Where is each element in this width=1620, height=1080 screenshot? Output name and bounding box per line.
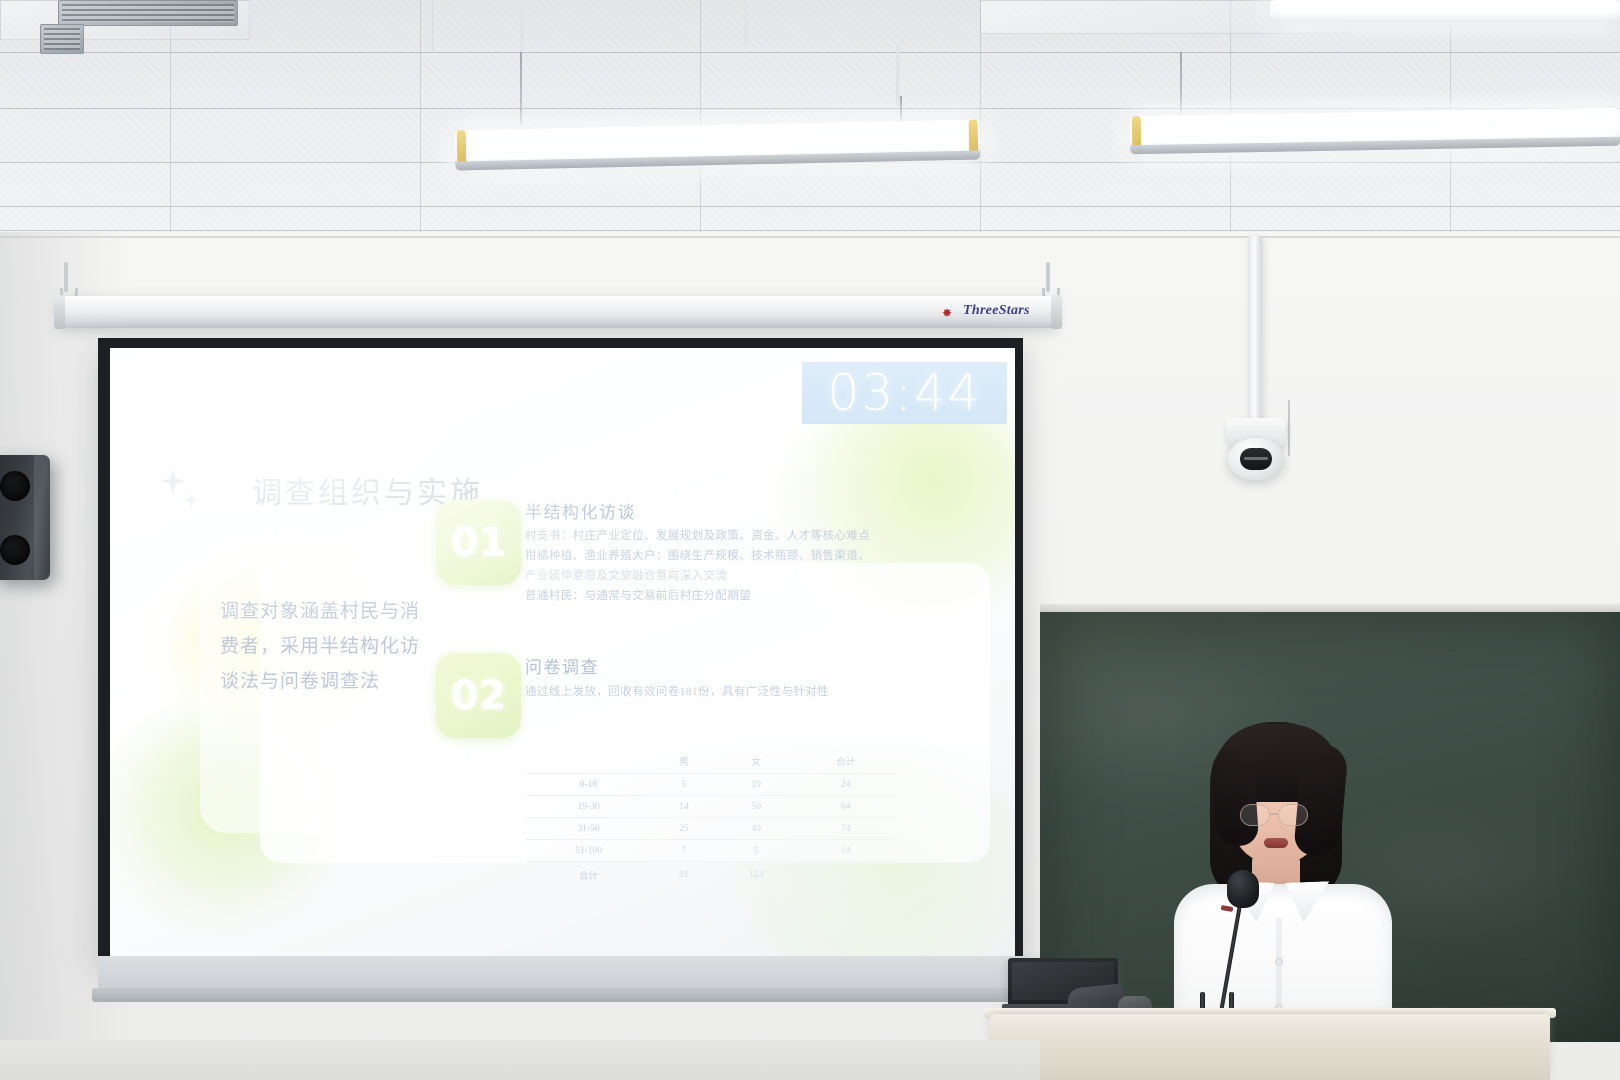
slide-left-summary: 调查对象涵盖村民与消费者，采用半结构化访谈法与问卷调查法: [220, 594, 425, 699]
table-cell-male: 51: [652, 862, 716, 888]
presentation-slide: 03:44 调查组织与实施 调查对象涵盖村民与消费者，采用半结构化访谈法与问卷调…: [110, 348, 1015, 956]
ceiling-grid-line: [420, 0, 421, 232]
screen-bottom-strip: [98, 956, 1023, 992]
classroom-scene: ✸ ThreeStars 03:44 调查组织与实施: [0, 0, 1620, 1080]
table-cell-total: 74: [797, 818, 895, 840]
sparkle-small-icon: [183, 492, 200, 509]
section-body-line: 产业延伸意愿及文旅融合意向深入交流: [525, 566, 945, 586]
shirt-button: [1275, 958, 1283, 966]
table-cell-female: 49: [716, 818, 797, 840]
camera-lens-icon: [1240, 448, 1272, 470]
sparkle-icon: [158, 466, 210, 514]
ceiling-grid-line: [0, 206, 1620, 207]
table-body: 0-18 5 19 24 19-30 14 50 64 31-50 25: [525, 774, 895, 888]
table-cell-label: 51-100: [525, 840, 652, 862]
table-header-row: 男 女 合计: [525, 748, 895, 774]
table-col-header: 男: [652, 748, 716, 774]
floor: [0, 1040, 1040, 1080]
table-row-total: 合计 51 123: [525, 862, 895, 888]
wall-speaker: [0, 455, 50, 580]
microphone-head-icon: [1227, 870, 1259, 908]
glasses-right-lens-icon: [1278, 804, 1308, 826]
light-hanger: [1180, 52, 1182, 118]
ceiling-vent: [40, 24, 84, 54]
table-cell-female: 5: [716, 840, 797, 862]
table-cell-female: 123: [716, 862, 797, 888]
table-cell-total: 24: [797, 774, 895, 796]
badge-number: 01: [451, 520, 507, 566]
sparkle-large-icon: [160, 468, 186, 494]
vent-louvers: [62, 4, 234, 22]
screen-weight-bar: [92, 988, 1028, 1002]
table-col-header: [525, 748, 652, 774]
camera-cable: [1288, 400, 1290, 456]
ceiling-conduit: [520, 0, 523, 52]
ceiling-conduit: [744, 0, 747, 44]
glasses-bridge-icon: [1270, 813, 1278, 815]
roller-bracket-right: [1051, 295, 1062, 329]
table-cell-male: 5: [652, 774, 716, 796]
timer-value: 03:44: [827, 364, 981, 422]
speaker-driver: [0, 535, 30, 565]
section-number-badge-01: 01: [436, 500, 521, 585]
glasses-left-lens-icon: [1240, 804, 1270, 826]
ceiling-light-fixture: [1270, 0, 1620, 22]
section-heading-01: 半结构化访谈: [525, 498, 636, 523]
ceiling-grid-line: [0, 230, 1620, 231]
table-cell-label: 19-30: [525, 796, 652, 818]
table-cell-total: [797, 862, 895, 888]
countdown-timer: 03:44: [802, 362, 1007, 424]
section-body-line: 村支书：村庄产业定位、发展规划及政策、资金、人才等核心难点: [525, 526, 945, 546]
camera-mount-arm: [1248, 236, 1262, 436]
speaker-driver: [0, 471, 30, 501]
table-cell-total: 14: [797, 840, 895, 862]
table-col-header: 合计: [797, 748, 895, 774]
screen-hook-left: [64, 262, 68, 292]
vent-louvers: [44, 28, 80, 50]
table-cell-female: 50: [716, 796, 797, 818]
ceiling: [0, 0, 1620, 232]
ceiling-vent: [58, 0, 238, 26]
podium: [990, 1014, 1550, 1080]
presenter-mouth: [1264, 838, 1288, 848]
section-number-badge-02: 02: [436, 653, 521, 738]
projector-screen-roller: ✸ ThreeStars: [58, 296, 1058, 328]
table-cell-male: 25: [652, 818, 716, 840]
table-cell-total: 64: [797, 796, 895, 818]
slide-title-group: 调查组织与实施: [158, 466, 483, 514]
presenter-hair-left: [1211, 747, 1260, 848]
table-cell-label: 31-50: [525, 818, 652, 840]
respondent-table: 男 女 合计 0-18 5 19 24 19-30 14 5: [525, 748, 895, 887]
table-row: 31-50 25 49 74: [525, 818, 895, 840]
ceiling-conduit: [430, 0, 433, 52]
table-row: 19-30 14 50 64: [525, 796, 895, 818]
ceiling-conduit: [896, 44, 899, 106]
table-cell-male: 14: [652, 796, 716, 818]
table-col-header: 女: [716, 748, 797, 774]
projection-screen-surface[interactable]: 03:44 调查组织与实施 调查对象涵盖村民与消费者，采用半结构化访谈法与问卷调…: [110, 348, 1015, 956]
section-body-01: 村支书：村庄产业定位、发展规划及政策、资金、人才等核心难点 柑橘种植、渔业养殖大…: [525, 526, 945, 607]
section-heading-02: 问卷调查: [525, 653, 599, 678]
ceiling-grid-line: [0, 52, 1620, 53]
ceiling-grid-line: [0, 108, 1620, 109]
section-body-line: 普通村民：与通常与交易前后村庄分配期望: [525, 586, 945, 606]
threestars-logo-icon: ✸: [942, 307, 956, 320]
badge-number: 02: [451, 673, 507, 719]
wall-seam: [0, 236, 1620, 238]
table-row: 0-18 5 19 24: [525, 774, 895, 796]
speaker-bevel: [34, 455, 50, 580]
table-cell-label: 0-18: [525, 774, 652, 796]
ceiling-grid-line: [980, 0, 981, 232]
section-body-line: 柑橘种植、渔业养殖大户：围绕生产规模、技术瓶颈、销售渠道、: [525, 546, 945, 566]
table-cell-female: 19: [716, 774, 797, 796]
ceiling-grid-line: [700, 0, 701, 232]
section-body-line: 通过线上发放，回收有效问卷181份，具有广泛性与针对性: [525, 682, 945, 702]
fluorescent-tube: [1275, 5, 1615, 12]
table-cell-male: 7: [652, 840, 716, 862]
table-row: 51-100 7 5 14: [525, 840, 895, 862]
table-cell-label: 合计: [525, 862, 652, 888]
light-hanger: [520, 52, 522, 124]
threestars-brand-label: ThreeStars: [963, 303, 1030, 319]
screen-hook-right: [1046, 262, 1050, 292]
section-body-02: 通过线上发放，回收有效问卷181份，具有广泛性与针对性: [525, 682, 945, 702]
roller-bracket-left: [54, 295, 65, 329]
table-head: 男 女 合计: [525, 748, 895, 774]
